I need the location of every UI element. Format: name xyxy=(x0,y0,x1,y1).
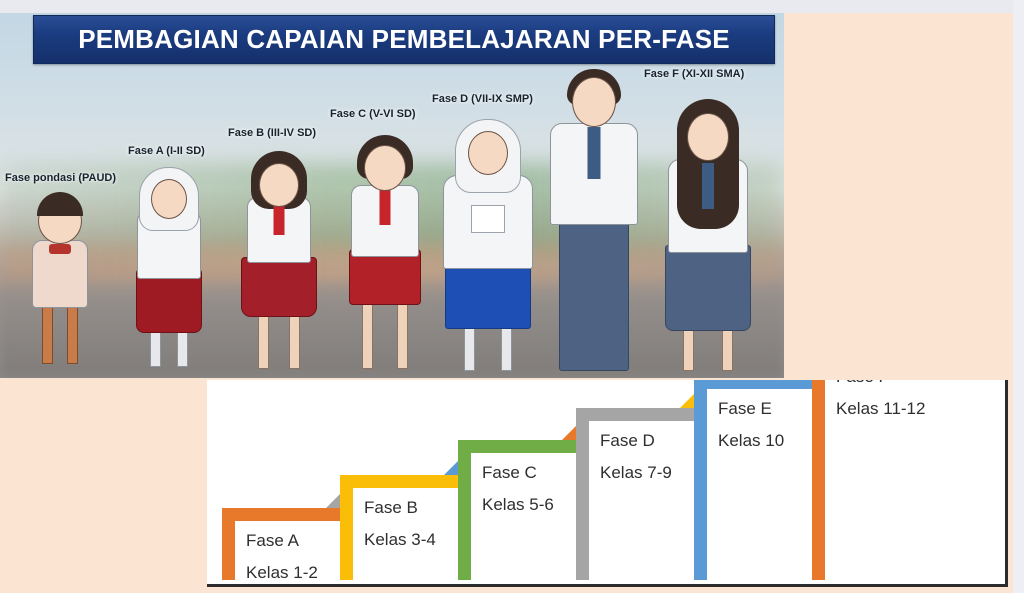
figure-head xyxy=(151,179,187,219)
figure-fase-c xyxy=(338,135,432,367)
phase-staircase-chart: Fase AKelas 1-2Fase BKelas 3-4Fase CKela… xyxy=(207,380,1008,587)
staircase-step-fase-a[interactable]: Fase AKelas 1-2 xyxy=(222,508,352,580)
figure-label-4: Fase D (VII-IX SMP) xyxy=(432,93,533,105)
figure-head xyxy=(259,163,299,207)
step-grade-label: Kelas 3-4 xyxy=(364,531,436,549)
figure-fase-b xyxy=(234,151,324,367)
step-tread xyxy=(222,508,352,521)
figure-paud xyxy=(20,188,100,363)
step-phase-label: Fase D xyxy=(600,432,655,450)
figure-necktie xyxy=(588,127,601,179)
figure-legs xyxy=(360,295,410,367)
step-phase-label: Fase C xyxy=(482,464,537,482)
step-phase-label: Fase B xyxy=(364,499,418,517)
figure-trousers xyxy=(559,213,629,371)
step-grade-label: Kelas 10 xyxy=(718,432,784,450)
staircase-step-fase-d[interactable]: Fase DKelas 7-9 xyxy=(576,408,706,580)
figure-necktie xyxy=(380,189,391,225)
step-riser xyxy=(576,408,589,580)
slide-screenshot: Fase pondasi (PAUD)Fase A (I-II SD)Fase … xyxy=(0,0,1024,593)
step-grade-label: Kelas 11-12 xyxy=(836,400,925,418)
page-right-margin xyxy=(1013,0,1024,593)
step-tread xyxy=(576,408,706,421)
figure-hair xyxy=(37,192,83,216)
figure-shorts xyxy=(349,249,421,305)
figure-fase-d xyxy=(436,117,540,369)
figure-head xyxy=(572,77,616,127)
figure-fase-e xyxy=(542,69,646,369)
page-title: PEMBAGIAN CAPAIAN PEMBELAJARAN PER-FASE xyxy=(78,24,730,55)
step-riser xyxy=(812,380,825,580)
figure-fase-f xyxy=(656,99,760,369)
step-phase-label: Fase F xyxy=(836,380,889,386)
step-riser xyxy=(458,440,471,580)
slide-title-banner: PEMBAGIAN CAPAIAN PEMBELAJARAN PER-FASE xyxy=(33,15,775,64)
figure-label-2: Fase B (III-IV SD) xyxy=(228,127,316,139)
staircase-step-fase-b[interactable]: Fase BKelas 3-4 xyxy=(340,475,470,580)
step-tread xyxy=(694,380,824,389)
step-grade-label: Kelas 5-6 xyxy=(482,496,554,514)
figure-head xyxy=(364,145,406,191)
step-tread xyxy=(340,475,470,488)
figure-label-0: Fase pondasi (PAUD) xyxy=(5,172,116,184)
figure-head xyxy=(687,113,729,161)
staircase-step-fase-e[interactable]: Fase EKelas 10 xyxy=(694,380,824,580)
step-grade-label: Kelas 7-9 xyxy=(600,464,672,482)
step-tread xyxy=(458,440,588,453)
figure-skirt xyxy=(445,261,531,329)
step-riser xyxy=(340,475,353,580)
figure-label-1: Fase A (I-II SD) xyxy=(128,145,205,157)
step-phase-label: Fase E xyxy=(718,400,772,418)
figure-label-5: Fase F (XI-XII SMA) xyxy=(644,68,744,80)
step-riser xyxy=(694,380,707,580)
figure-necktie xyxy=(702,163,714,209)
figure-skirt xyxy=(241,257,317,317)
step-grade-label: Kelas 1-2 xyxy=(246,564,318,582)
page-top-margin xyxy=(0,0,1024,13)
staircase-step-fase-f[interactable]: Fase FKelas 11-12 xyxy=(812,380,992,580)
figure-head xyxy=(468,131,508,175)
figure-bowtie xyxy=(49,244,71,254)
staircase-step-fase-c[interactable]: Fase CKelas 5-6 xyxy=(458,440,588,580)
figure-book xyxy=(471,205,505,233)
figure-legs xyxy=(40,300,80,362)
figure-label-3: Fase C (V-VI SD) xyxy=(330,108,416,120)
figure-fase-a xyxy=(126,165,212,365)
students-lineup-illustration: Fase pondasi (PAUD)Fase A (I-II SD)Fase … xyxy=(0,13,784,378)
figure-skirt xyxy=(665,245,751,331)
step-phase-label: Fase A xyxy=(246,532,299,550)
